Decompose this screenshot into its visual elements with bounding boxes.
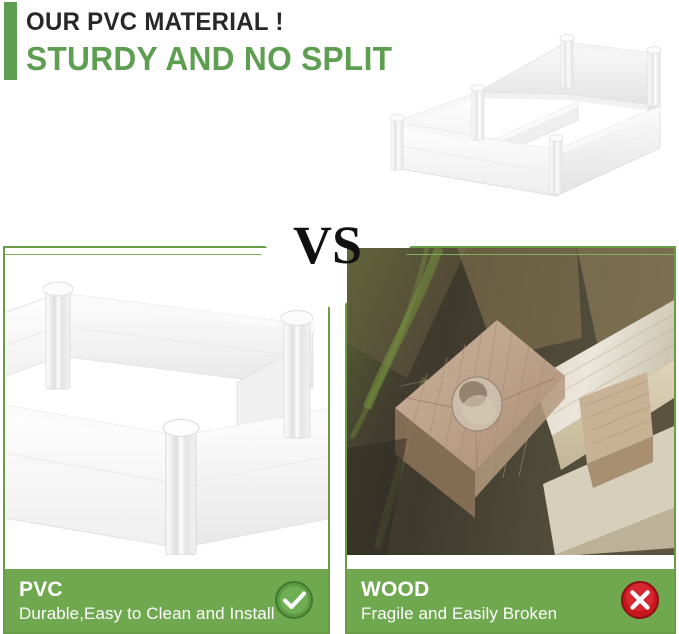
wood-comparison-panel: WOOD Fragile and Easily Broken (345, 246, 676, 634)
header-banner: OUR PVC MATERIAL ! STURDY AND NO SPLIT (0, 0, 679, 215)
wood-label-text: WOOD Fragile and Easily Broken (361, 577, 557, 625)
wood-joint-illustration (347, 248, 674, 555)
pvc-label-text: PVC Durable,Easy to Clean and Install (19, 577, 275, 625)
pvc-label-bar: PVC Durable,Easy to Clean and Install (5, 569, 328, 632)
check-circle-icon (274, 580, 314, 620)
pvc-product-photo (5, 248, 328, 555)
wood-product-photo (347, 248, 674, 555)
pvc-bed-closeup-illustration (5, 248, 328, 555)
wood-label-subtitle: Fragile and Easily Broken (361, 602, 557, 625)
pvc-label-title: PVC (19, 577, 275, 602)
vs-label: VS (293, 218, 362, 272)
pvc-label-subtitle: Durable,Easy to Clean and Install (19, 602, 275, 625)
comparison-section: PVC Durable,Easy to Clean and Install (0, 246, 679, 634)
hero-pvc-bed-image (360, 14, 670, 204)
wood-label-title: WOOD (361, 577, 557, 602)
x-circle-icon (620, 580, 660, 620)
pvc-bed-illustration (360, 14, 670, 204)
accent-bar (4, 2, 17, 80)
wood-label-bar: WOOD Fragile and Easily Broken (347, 569, 674, 632)
pvc-comparison-panel: PVC Durable,Easy to Clean and Install (3, 246, 330, 634)
